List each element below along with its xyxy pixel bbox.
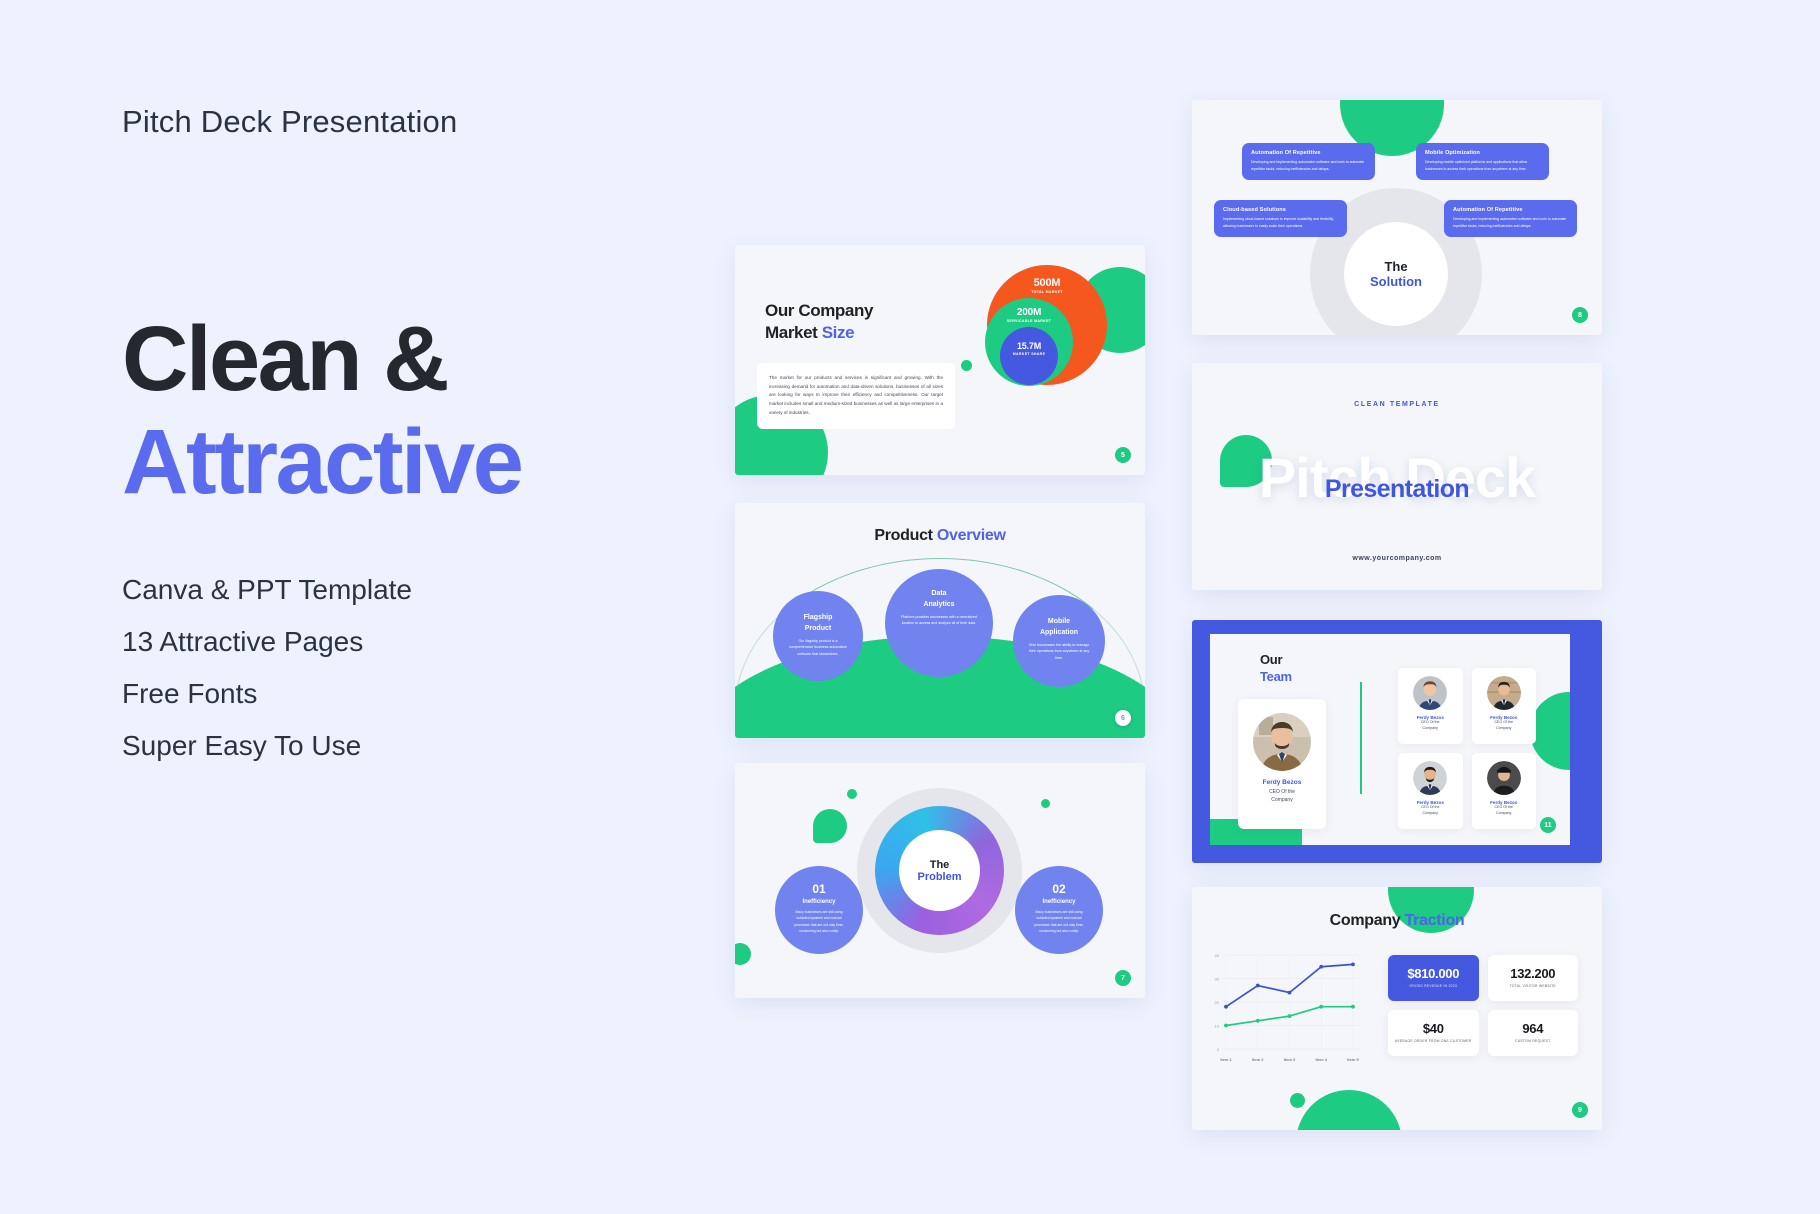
kpi-average-order[interactable]: $40 AVERAGE ORDER FROM ONE CUSTOMER: [1388, 1010, 1479, 1056]
title-line-1: Our Company: [765, 301, 873, 320]
member-name: Ferdy Bezos: [1263, 779, 1302, 786]
page-number-badge: 11: [1540, 817, 1556, 833]
team-member-card[interactable]: Ferdy Bezos CEO Of the Company: [1472, 753, 1537, 829]
decorative-dot-green: [847, 789, 857, 799]
slide-the-problem[interactable]: The Problem 01 Inefficiency Many busines…: [735, 763, 1145, 998]
role-line-1: CEO Of the: [1269, 789, 1295, 795]
decorative-dot-green: [1041, 799, 1050, 808]
svg-text:Item 3: Item 3: [1284, 1057, 1296, 1062]
problem-center-label: The Problem: [899, 830, 980, 911]
team-member-card[interactable]: Ferdy Bezos CEO Of the Company: [1398, 753, 1463, 829]
decorative-blob-green: [813, 809, 847, 843]
kpi-label: TOTAL VISITOR WEBSITE: [1510, 984, 1556, 989]
center-line-2: Problem: [917, 871, 961, 883]
page-number-badge: 6: [1115, 710, 1131, 726]
product-bubble-mobile-application[interactable]: Mobile Application Give businesses the a…: [1013, 595, 1105, 687]
list-item: Canva & PPT Template: [122, 576, 682, 604]
solution-card-automation-1[interactable]: Automation Of Repetitive Developing and …: [1242, 143, 1375, 180]
svg-text:Item 4: Item 4: [1315, 1057, 1327, 1062]
list-item: 13 Attractive Pages: [122, 628, 682, 656]
slide-our-team[interactable]: Our Team: [1192, 620, 1602, 863]
card-title: Automation Of Repetitive: [1251, 150, 1366, 156]
team-member-grid: Ferdy Bezos CEO Of the Company: [1398, 668, 1536, 829]
card-description: Developing mobile optimized platforms an…: [1425, 159, 1540, 172]
hero-line-2: Attractive: [122, 411, 682, 514]
role-line-2: Company: [1271, 797, 1292, 803]
role-line-2: Company: [1496, 811, 1511, 815]
bubble-description: Give businesses the ability to manage th…: [1013, 642, 1105, 661]
list-item: Super Easy To Use: [122, 732, 682, 760]
role-line-2: Company: [1496, 726, 1511, 730]
feature-list: Canva & PPT Template 13 Attractive Pages…: [122, 576, 682, 760]
slide-company-traction[interactable]: Company Traction 010203040Item 1Item 2It…: [1192, 887, 1602, 1130]
kpi-grid: $810.000 GROSS REVENUE IN 2023 132.200 T…: [1388, 955, 1578, 1056]
product-bubble-flagship[interactable]: Flagship Product Our flagship product is…: [773, 591, 863, 681]
solution-card-cloud-based[interactable]: Cloud-based Solutions Implementing cloud…: [1214, 200, 1347, 237]
kpi-value: 964: [1522, 1021, 1543, 1036]
center-line-2: Solution: [1370, 274, 1422, 289]
role-line-1: CEO Of the: [1421, 805, 1440, 809]
hero-line-1: Clean &: [122, 308, 682, 411]
slide-cover-pitch-deck[interactable]: CLEAN TEMPLATE Pitch Deck Presentation w…: [1192, 363, 1602, 590]
kpi-label: CUSTOM REQUEST: [1515, 1039, 1550, 1044]
decorative-dot-green: [735, 943, 751, 965]
list-item: Free Fonts: [122, 680, 682, 708]
bubble-label: Inefficiency: [1015, 899, 1103, 905]
bubble-title-line-2: Product: [805, 624, 831, 635]
svg-text:0: 0: [1217, 1047, 1220, 1052]
bubble-title-line-1: Mobile: [1048, 617, 1070, 628]
card-title: Mobile Optimization: [1425, 150, 1540, 156]
role-line-1: CEO Of the: [1421, 720, 1440, 724]
circle-label: MARKET SHARE: [1013, 352, 1046, 356]
title-line-2: Market: [765, 323, 817, 342]
slide-title: Company Traction: [1192, 912, 1602, 930]
title-dark: Our: [1260, 652, 1282, 667]
bubble-description: Our flagship product is a comprehensive …: [773, 638, 863, 657]
title-dark: Product: [874, 527, 932, 544]
decorative-dot-green: [1290, 1093, 1305, 1108]
slide-the-solution[interactable]: The Solution Automation Of Repetitive De…: [1192, 100, 1602, 335]
team-member-card[interactable]: Ferdy Bezos CEO Of the Company: [1472, 668, 1537, 744]
svg-text:30: 30: [1215, 977, 1220, 982]
card-title: Automation Of Repetitive: [1453, 207, 1568, 213]
slide-title: Our Team: [1260, 652, 1292, 686]
kpi-label: GROSS REVENUE IN 2023: [1409, 984, 1457, 989]
page-number-badge: 5: [1115, 447, 1131, 463]
bubble-number: 02: [1015, 883, 1103, 896]
slide-title: Our Company Market Size: [765, 300, 873, 344]
bubble-title-line-1: Data: [931, 589, 946, 600]
kpi-value: 132.200: [1510, 966, 1555, 981]
bubble-label: Inefficiency: [775, 899, 863, 905]
vertical-divider: [1360, 682, 1362, 794]
left-text-panel: Pitch Deck Presentation Clean & Attracti…: [122, 104, 682, 784]
traction-line-chart: 010203040Item 1Item 2Item 3Item 4Item 5: [1206, 949, 1366, 1069]
avatar: [1413, 676, 1447, 710]
circle-value: 15.7M: [1017, 341, 1041, 351]
circle-market-share: 15.7M MARKET SHARE: [1000, 327, 1058, 385]
bubble-description: Platform provides businesses with a cent…: [885, 614, 993, 627]
market-size-diagram: 500M TOTAL MARKET 200M SERVICABLE MARKET…: [983, 265, 1118, 400]
hero-heading: Clean & Attractive: [122, 308, 682, 514]
role-line-1: CEO Of the: [1494, 720, 1513, 724]
problem-bubble-02[interactable]: 02 Inefficiency Many businesses are stil…: [1015, 866, 1103, 954]
cover-eyebrow: CLEAN TEMPLATE: [1192, 401, 1602, 408]
member-role: CEO Of the Company: [1421, 805, 1440, 817]
cover-website-url: www.yourcompany.com: [1192, 555, 1602, 562]
bubble-title-line-1: Flagship: [804, 613, 833, 624]
eyebrow-text: Pitch Deck Presentation: [122, 104, 682, 140]
bubble-number: 01: [775, 883, 863, 896]
svg-text:40: 40: [1215, 953, 1220, 958]
market-description-text: The market for our products and services…: [769, 374, 943, 418]
role-line-2: Company: [1423, 726, 1438, 730]
bubble-title-line-2: Analytics: [923, 600, 954, 611]
slide-market-size[interactable]: Our Company Market Size The market for o…: [735, 245, 1145, 475]
product-bubble-data-analytics[interactable]: Data Analytics Platform provides busines…: [885, 569, 993, 677]
kpi-total-visitor[interactable]: 132.200 TOTAL VISITOR WEBSITE: [1488, 955, 1579, 1001]
member-role: CEO Of the Company: [1421, 720, 1440, 732]
title-accent: Size: [822, 323, 854, 342]
solution-card-automation-2[interactable]: Automation Of Repetitive Developing and …: [1444, 200, 1577, 237]
card-description: Implementing cloud-based solutions to im…: [1223, 216, 1338, 229]
role-line-2: Company: [1423, 811, 1438, 815]
card-description: Developing and implementing automation s…: [1251, 159, 1366, 172]
page-number-badge: 8: [1572, 307, 1588, 323]
slide-title: Product Overview: [735, 527, 1145, 545]
bubble-description: Many businesses are still using outdated…: [1015, 909, 1103, 934]
avatar: [1253, 713, 1311, 771]
circle-value: 500M: [1034, 277, 1061, 289]
member-role: CEO Of the Company: [1269, 788, 1295, 804]
center-line-1: The: [930, 859, 950, 871]
decorative-dot-green: [961, 360, 972, 371]
solution-card-mobile-optimization[interactable]: Mobile Optimization Developing mobile op…: [1416, 143, 1549, 180]
title-dark: Company: [1330, 912, 1401, 929]
solution-center-label: The Solution: [1344, 222, 1448, 326]
kpi-custom-request[interactable]: 964 CUSTOM REQUEST: [1488, 1010, 1579, 1056]
team-member-card[interactable]: Ferdy Bezos CEO Of the Company: [1398, 668, 1463, 744]
problem-bubble-01[interactable]: 01 Inefficiency Many businesses are stil…: [775, 866, 863, 954]
bubble-description: Many businesses are still using outdated…: [775, 909, 863, 934]
bubble-title-line-2: Application: [1040, 628, 1078, 639]
slide-product-overview[interactable]: Product Overview Flagship Product Our fl…: [735, 503, 1145, 738]
title-accent: Overview: [937, 527, 1006, 544]
poster-canvas: Pitch Deck Presentation Clean & Attracti…: [0, 0, 1820, 1214]
svg-text:Item 1: Item 1: [1220, 1057, 1232, 1062]
cover-subtitle: Presentation: [1192, 475, 1602, 504]
avatar: [1487, 676, 1521, 710]
kpi-gross-revenue[interactable]: $810.000 GROSS REVENUE IN 2023: [1388, 955, 1479, 1001]
avatar: [1487, 761, 1521, 795]
avatar: [1413, 761, 1447, 795]
circle-value: 200M: [1017, 307, 1041, 318]
page-number-badge: 9: [1572, 1102, 1588, 1118]
role-line-1: CEO Of the: [1494, 805, 1513, 809]
page-number-badge: 7: [1115, 970, 1131, 986]
svg-text:Item 5: Item 5: [1347, 1057, 1359, 1062]
team-slide-inner: Our Team: [1210, 634, 1570, 845]
team-lead-card[interactable]: Ferdy Bezos CEO Of the Company: [1238, 699, 1326, 829]
kpi-value: $810.000: [1407, 966, 1459, 981]
kpi-value: $40: [1423, 1021, 1444, 1036]
circle-label: TOTAL MARKET: [1031, 290, 1063, 294]
svg-text:10: 10: [1215, 1024, 1220, 1029]
svg-text:Item 2: Item 2: [1252, 1057, 1264, 1062]
card-title: Cloud-based Solutions: [1223, 207, 1338, 213]
kpi-label: AVERAGE ORDER FROM ONE CUSTOMER: [1395, 1039, 1472, 1044]
title-accent: Traction: [1405, 912, 1465, 929]
title-accent: Team: [1260, 669, 1292, 684]
card-description: Developing and implementing automation s…: [1453, 216, 1568, 229]
decorative-circle-green: [1530, 692, 1570, 770]
member-role: CEO Of the Company: [1494, 720, 1513, 732]
market-description-card: The market for our products and services…: [757, 363, 955, 429]
center-line-1: The: [1384, 259, 1407, 274]
svg-text:20: 20: [1215, 1000, 1220, 1005]
circle-label: SERVICABLE MARKET: [1007, 319, 1052, 323]
decorative-circle-green: [1296, 1090, 1402, 1130]
member-role: CEO Of the Company: [1494, 805, 1513, 817]
